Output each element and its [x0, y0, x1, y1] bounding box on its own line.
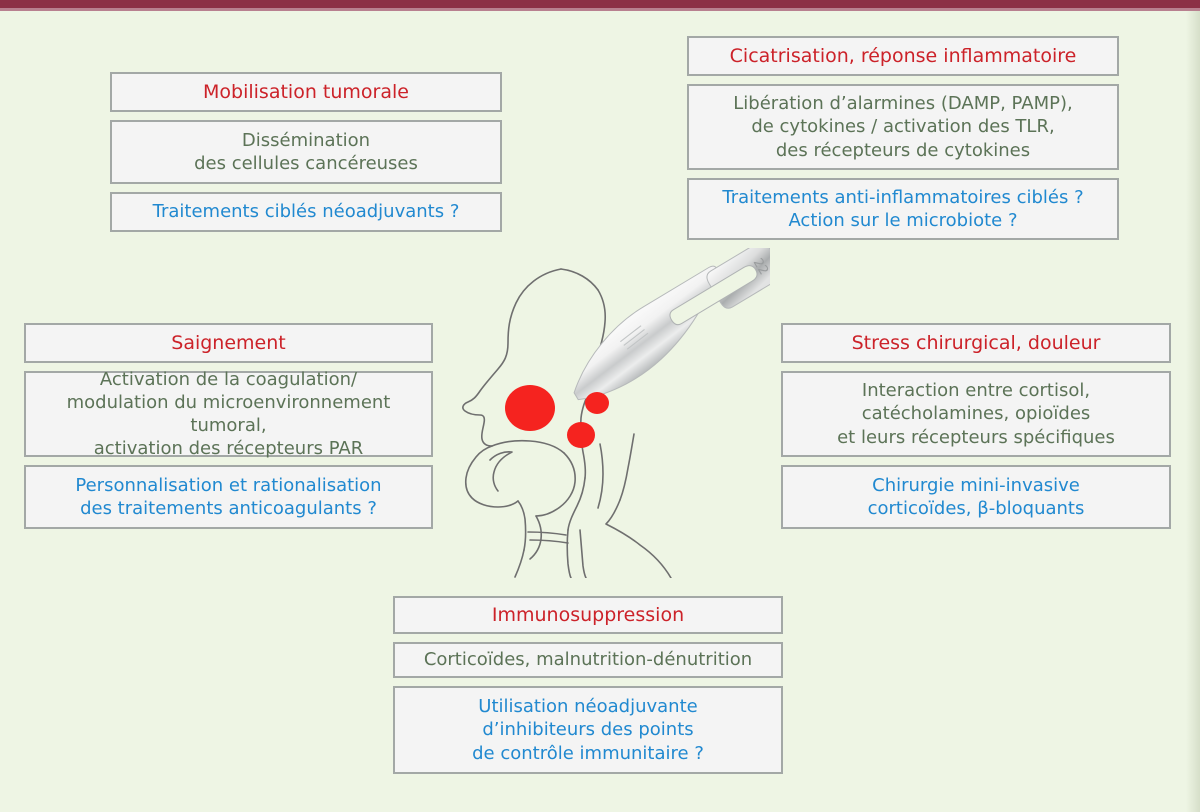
mechanism-box-immunosuppression: Corticoïdes, malnutrition-dénutrition [393, 642, 783, 678]
treatment-text: Utilisation néoadjuvanted’inhibiteurs de… [472, 695, 704, 764]
group-stress-chirurgical-douleur: Stress chirurgical, douleur Interaction … [781, 323, 1171, 537]
top-accent-line [0, 8, 1200, 11]
tumor-markers [505, 385, 609, 448]
tumor-marker-node-lower [567, 422, 595, 448]
tumor-marker-node-upper [585, 392, 609, 414]
mechanism-text: Libération d’alarmines (DAMP, PAMP),de c… [733, 92, 1072, 161]
group-cicatrisation-reponse-inflammatoire: Cicatrisation, réponse inflammatoire Lib… [687, 36, 1119, 248]
treatment-text: Personnalisation et rationalisationdes t… [75, 474, 381, 520]
treatment-box-saignement: Personnalisation et rationalisationdes t… [24, 465, 433, 529]
mechanism-box-cicatrisation: Libération d’alarmines (DAMP, PAMP),de c… [687, 84, 1119, 170]
treatment-box-mobilisation-tumorale: Traitements ciblés néoadjuvants ? [110, 192, 502, 232]
figure-canvas: Mobilisation tumorale Disséminationdes c… [0, 0, 1200, 812]
group-mobilisation-tumorale: Mobilisation tumorale Disséminationdes c… [110, 72, 502, 240]
heading-text: Mobilisation tumorale [203, 80, 409, 104]
mechanism-box-mobilisation-tumorale: Disséminationdes cellules cancéreuses [110, 120, 502, 184]
mechanism-text: Corticoïdes, malnutrition-dénutrition [424, 648, 752, 671]
heading-text: Cicatrisation, réponse inflammatoire [730, 44, 1077, 68]
heading-box-saignement: Saignement [24, 323, 433, 363]
group-saignement: Saignement Activation de la coagulation/… [24, 323, 433, 537]
tumor-marker-primary [505, 385, 555, 431]
heading-box-immunosuppression: Immunosuppression [393, 596, 783, 634]
group-immunosuppression: Immunosuppression Corticoïdes, malnutrit… [393, 596, 783, 782]
heading-box-cicatrisation: Cicatrisation, réponse inflammatoire [687, 36, 1119, 76]
heading-text: Immunosuppression [492, 603, 684, 627]
treatment-text: Traitements anti-inflammatoires ciblés ?… [722, 186, 1083, 232]
treatment-box-stress-chirurgical: Chirurgie mini-invasivecorticoïdes, β-bl… [781, 465, 1171, 529]
treatment-text: Traitements ciblés néoadjuvants ? [153, 200, 460, 223]
mechanism-text: Interaction entre cortisol,catécholamine… [837, 379, 1115, 448]
treatment-box-cicatrisation: Traitements anti-inflammatoires ciblés ?… [687, 178, 1119, 240]
treatment-box-immunosuppression: Utilisation néoadjuvanted’inhibiteurs de… [393, 686, 783, 774]
top-accent-bar [0, 0, 1200, 8]
heading-box-stress-chirurgical: Stress chirurgical, douleur [781, 323, 1171, 363]
mechanism-text: Disséminationdes cellules cancéreuses [194, 129, 418, 175]
heading-box-mobilisation-tumorale: Mobilisation tumorale [110, 72, 502, 112]
mechanism-box-saignement: Activation de la coagulation/modulation … [24, 371, 433, 457]
heading-text: Saignement [171, 331, 285, 355]
scalpel-blade-icon: 22 [555, 248, 770, 409]
heading-text: Stress chirurgical, douleur [852, 331, 1101, 355]
head-and-neck-illustration: 22 [440, 248, 770, 578]
right-edge-shading [1186, 11, 1200, 812]
mechanism-box-stress-chirurgical: Interaction entre cortisol,catécholamine… [781, 371, 1171, 457]
treatment-text: Chirurgie mini-invasivecorticoïdes, β-bl… [868, 474, 1085, 520]
mechanism-text: Activation de la coagulation/modulation … [34, 368, 423, 460]
